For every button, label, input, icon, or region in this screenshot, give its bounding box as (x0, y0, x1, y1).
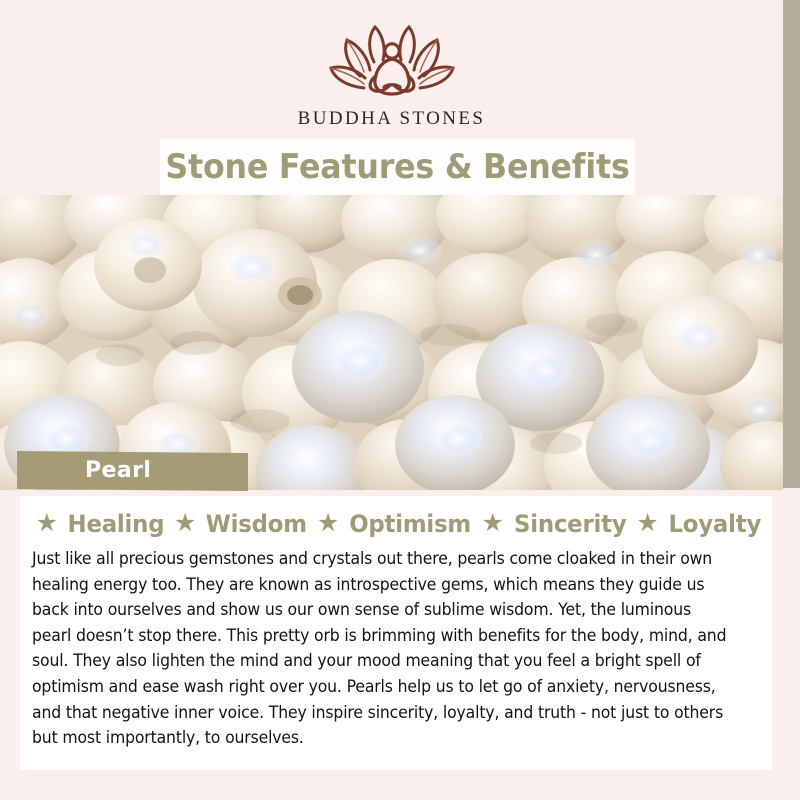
star-icon: ★ (636, 511, 658, 536)
pearls-photo (0, 195, 783, 490)
infographic-page: BUDDHA STONES Stone Features & Benefits (0, 0, 800, 800)
page-title: Stone Features & Benefits (177, 141, 619, 193)
pearls-photo-art (0, 195, 783, 490)
content-card: ★ Healing ★ Wisdom ★ Optimism ★ Sincerit… (20, 496, 772, 770)
description-paragraph: Just like all precious gemstones and cry… (32, 546, 727, 751)
brand-name: BUDDHA STONES (298, 108, 486, 130)
keyword-wisdom: Wisdom (206, 510, 307, 538)
brand-logo: BUDDHA STONES (0, 18, 783, 138)
keyword-sincerity: Sincerity (514, 510, 627, 538)
keyword-list: ★ Healing ★ Wisdom ★ Optimism ★ Sincerit… (20, 510, 772, 538)
lotus-meditation-icon (326, 18, 458, 104)
keyword-loyalty: Loyalty (668, 510, 761, 538)
stone-name-label: Pearl (85, 458, 151, 483)
keyword-optimism: Optimism (349, 510, 471, 538)
star-icon: ★ (174, 511, 196, 536)
star-icon: ★ (317, 511, 339, 536)
stone-name-banner: Pearl (17, 451, 248, 491)
star-icon: ★ (36, 511, 58, 536)
keyword-healing: Healing (68, 510, 165, 538)
star-icon: ★ (481, 511, 503, 536)
